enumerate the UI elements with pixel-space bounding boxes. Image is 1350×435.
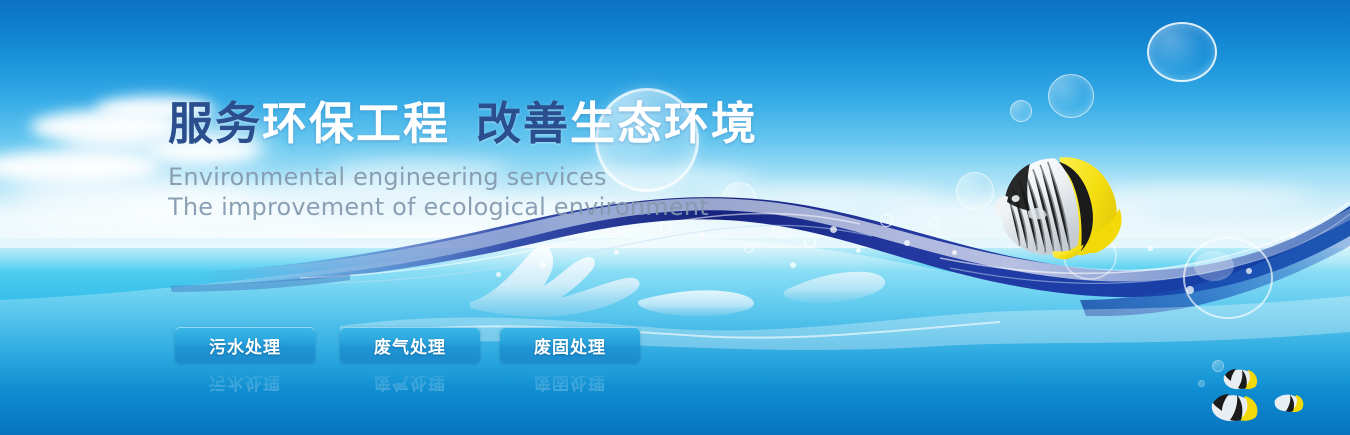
page-title: 服务环保工程改善生态环境 [168, 98, 758, 150]
small-fish-icon [1204, 390, 1262, 424]
button-wastewater-treatment[interactable]: 污水处理 [175, 327, 315, 363]
water-droplet [930, 218, 940, 228]
water-droplet [700, 232, 705, 237]
bubble-ring [1048, 74, 1094, 118]
water-droplet [1148, 246, 1153, 251]
water-droplet [744, 244, 753, 253]
water-droplet [790, 262, 796, 268]
title-phrase-two-light: 生态环境 [570, 97, 758, 150]
title-phrase-two-dark: 改善 [476, 97, 570, 150]
subtitle-line-one: Environmental engineering services [168, 162, 607, 192]
subtitle-line-two: The improvement of ecological environmen… [168, 192, 709, 222]
title-phrase-one-dark: 服务 [168, 97, 262, 150]
water-droplet [880, 214, 893, 227]
water-droplet [614, 250, 619, 255]
water-droplet [952, 250, 957, 255]
water-droplet [856, 248, 861, 253]
button-solid-waste-treatment[interactable]: 废固处理 [500, 327, 640, 363]
button-waste-gas-treatment[interactable]: 废气处理 [340, 327, 480, 363]
water-droplet [1246, 268, 1252, 274]
water-droplet [904, 240, 910, 246]
bubble-ring [1010, 100, 1032, 122]
button-reflection: 污水处理 [175, 364, 315, 394]
water-droplet [540, 262, 546, 268]
water-droplet [830, 226, 837, 233]
button-reflection: 废固处理 [500, 364, 640, 394]
small-fish-icon [1218, 366, 1260, 392]
button-reflection: 废气处理 [340, 364, 480, 394]
water-droplet [496, 272, 501, 277]
bubble-ring [1198, 380, 1205, 387]
title-phrase-one-light: 环保工程 [262, 97, 450, 150]
small-fish-icon [1270, 392, 1306, 414]
water-droplet [660, 222, 671, 233]
banner-hero: 服务环保工程改善生态环境 Environmental engineering s… [0, 0, 1350, 435]
bubble-ring [1147, 22, 1217, 82]
water-droplet [804, 236, 816, 248]
water-droplet [1186, 286, 1194, 294]
water-droplet [1290, 232, 1296, 238]
